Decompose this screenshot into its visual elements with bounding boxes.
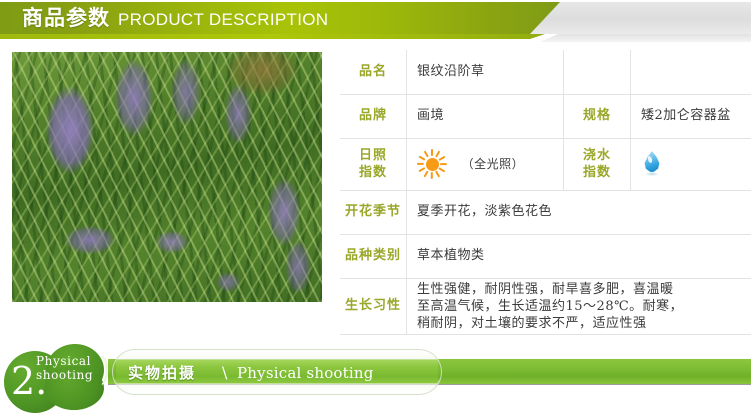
spec-value-brand: 画境 <box>407 94 564 138</box>
table-row: 日照 指数 （全光照） 浇水 指数 <box>340 138 751 190</box>
spec-label-sunlight: 日照 指数 <box>340 138 407 190</box>
spec-value-spec: 矮2加仑容器盆 <box>631 94 751 138</box>
step-badge: 2. Physical shooting ) <box>0 340 120 417</box>
sun-icon <box>417 149 447 179</box>
banner-title-cn: 实物拍摄 <box>128 364 196 382</box>
step-label-line2: shooting <box>36 368 93 382</box>
page-title-cn: 商品参数 <box>22 5 110 31</box>
spec-label-sunlight-line1: 日照 <box>340 147 406 164</box>
banner-separator: \ <box>222 363 227 383</box>
spec-label-category: 品种类别 <box>340 234 407 278</box>
header-green-underline <box>0 34 545 39</box>
product-photo-image <box>12 52 322 302</box>
product-photo <box>12 52 322 302</box>
spec-label-watering-line1: 浇水 <box>564 147 630 164</box>
spec-label-bloom-season: 开花季节 <box>340 190 407 234</box>
spec-value-name: 银纹沿阶草 <box>407 50 564 94</box>
spec-value-bloom-season: 夏季开花，淡紫色花色 <box>407 190 751 234</box>
spec-value-empty-1 <box>631 50 751 94</box>
growth-habit-line2: 至高温气候，生长适温约15～28℃。耐寒， <box>417 298 751 315</box>
water-drop-icon <box>641 150 663 178</box>
table-row: 开花季节 夏季开花，淡紫色花色 <box>340 190 751 234</box>
spec-label-sunlight-line2: 指数 <box>340 164 406 181</box>
page-title-en: PRODUCT DESCRIPTION <box>118 9 328 31</box>
spec-label-watering-line2: 指数 <box>564 164 630 181</box>
section-banner-physical-shooting: 实物拍摄 \ Physical shooting 2. Physical sho… <box>0 340 751 417</box>
spec-value-watering <box>631 138 751 190</box>
spec-label-name: 品名 <box>340 50 407 94</box>
spec-label-spec: 规格 <box>564 94 631 138</box>
product-spec-table: 品名 银纹沿阶草 品牌 画境 规格 矮2加仑容器盆 日照 指数 <box>340 50 751 335</box>
spec-value-sunlight-text: （全光照） <box>462 157 525 171</box>
spec-label-empty-1 <box>564 50 631 94</box>
growth-habit-line1: 生性强健，耐阴性强，耐旱喜多肥，喜温暖 <box>417 281 751 298</box>
spec-value-category: 草本植物类 <box>407 234 751 278</box>
spec-label-brand: 品牌 <box>340 94 407 138</box>
spec-label-watering: 浇水 指数 <box>564 138 631 190</box>
table-row: 品种类别 草本植物类 <box>340 234 751 278</box>
page-header: 商品参数 PRODUCT DESCRIPTION <box>0 0 751 43</box>
table-row: 生长习性 生性强健，耐阴性强，耐旱喜多肥，喜温暖 至高温气候，生长适温约15～2… <box>340 278 751 334</box>
spec-label-growth-habit: 生长习性 <box>340 278 407 334</box>
banner-title-en: Physical shooting <box>237 363 374 383</box>
header-gray-shade <box>540 34 751 42</box>
step-badge-paren: ) <box>100 353 110 388</box>
growth-habit-line3: 稍耐阴，对土壤的要求不严，适应性强 <box>417 315 751 332</box>
table-row: 品牌 画境 规格 矮2加仑容器盆 <box>340 94 751 138</box>
step-label-line1: Physical <box>36 354 91 368</box>
spec-value-sunlight: （全光照） <box>407 138 564 190</box>
spec-value-growth-habit: 生性强健，耐阴性强，耐旱喜多肥，喜温暖 至高温气候，生长适温约15～28℃。耐寒… <box>407 278 751 334</box>
table-row: 品名 银纹沿阶草 <box>340 50 751 94</box>
